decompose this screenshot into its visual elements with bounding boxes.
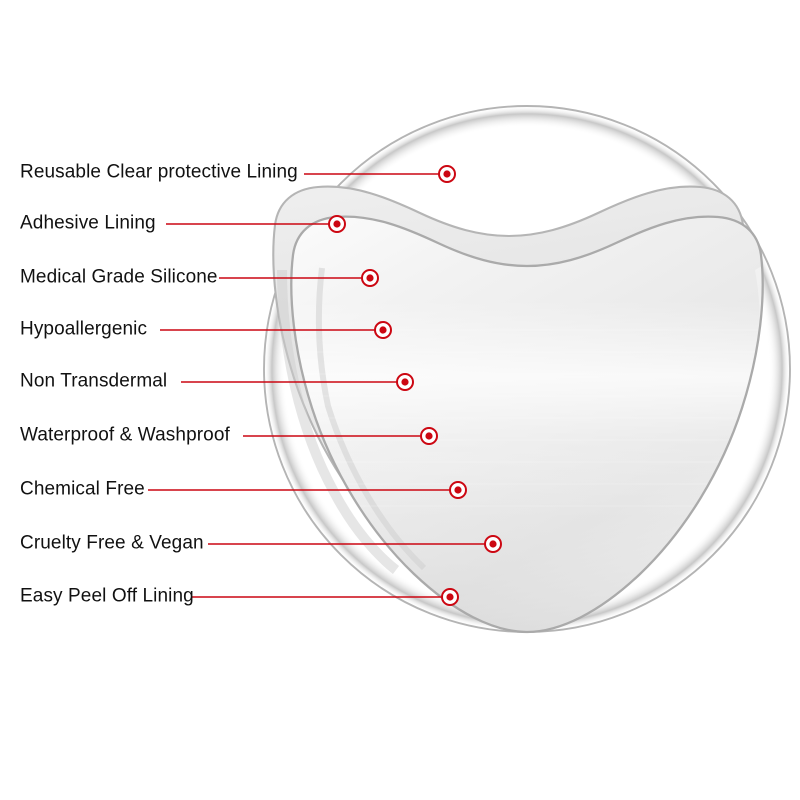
bullseye-center-dot-icon: [366, 274, 373, 281]
callout-label-medical-grade-silicone: Medical Grade Silicone: [20, 268, 218, 287]
bullseye-center-dot-icon: [379, 326, 386, 333]
bullseye-center-dot-icon: [425, 432, 432, 439]
callout-label-waterproof-and-washproof: Waterproof & Washproof: [20, 426, 230, 445]
bullseye-center-dot-icon: [489, 540, 496, 547]
product-illustration: [0, 0, 800, 800]
callout-label-hypoallergenic: Hypoallergenic: [20, 320, 147, 339]
bullseye-center-dot-icon: [333, 220, 340, 227]
callout-label-non-transdermal: Non Transdermal: [20, 372, 167, 391]
infographic-canvas: Reusable Clear protective LiningAdhesive…: [0, 0, 800, 800]
callout-label-cruelty-free-and-vegan: Cruelty Free & Vegan: [20, 534, 204, 553]
bullseye-center-dot-icon: [446, 593, 453, 600]
callout-label-easy-peel-off-lining: Easy Peel Off Lining: [20, 587, 194, 606]
callout-label-adhesive-lining: Adhesive Lining: [20, 214, 156, 233]
callout-label-chemical-free: Chemical Free: [20, 480, 145, 499]
bullseye-center-dot-icon: [454, 486, 461, 493]
bullseye-center-dot-icon: [401, 378, 408, 385]
bullseye-center-dot-icon: [443, 170, 450, 177]
callout-label-reusable-clear-protective-lining: Reusable Clear protective Lining: [20, 163, 298, 182]
